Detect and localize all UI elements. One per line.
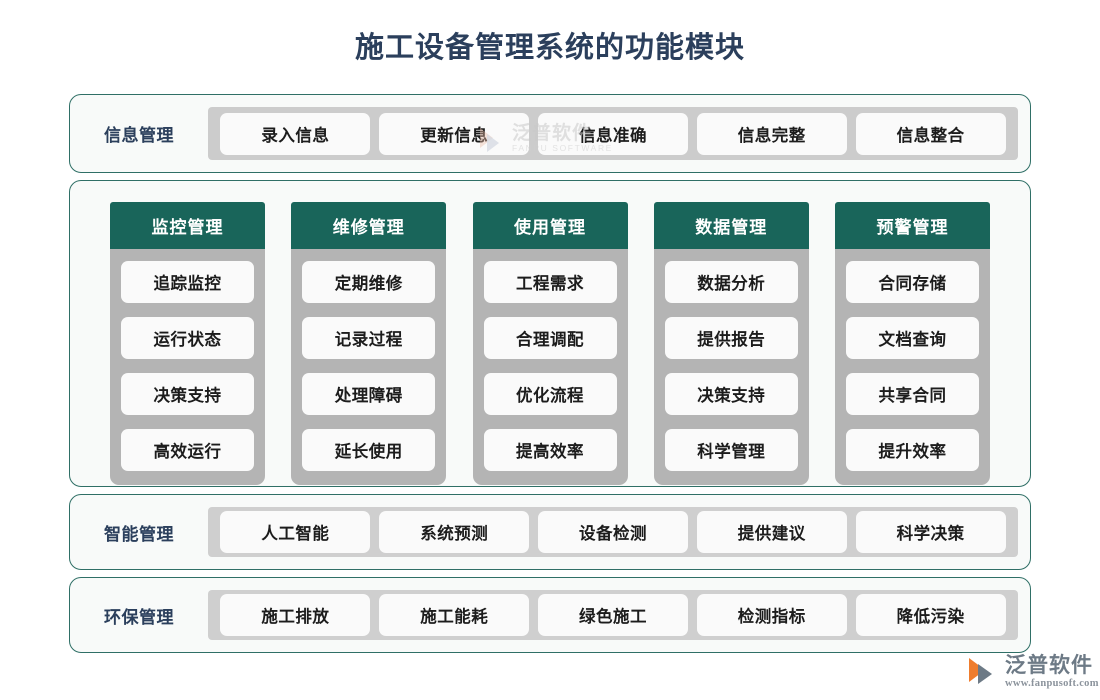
cell-usage-3[interactable]: 提高效率 [484, 429, 617, 471]
row-label-smart: 智能管理 [70, 520, 208, 545]
column-header-maintenance: 维修管理 [291, 202, 446, 249]
brand-logo: 泛普软件 www.fanpusoft.com [968, 655, 1099, 689]
column-body-usage: 工程需求 合理调配 优化流程 提高效率 [473, 249, 628, 485]
column-body-monitoring: 追踪监控 运行状态 决策支持 高效运行 [110, 249, 265, 485]
cell-usage-2[interactable]: 优化流程 [484, 373, 617, 415]
module-column-maintenance: 维修管理 定期维修 记录过程 处理障碍 延长使用 [291, 202, 446, 460]
brand-name: 泛普软件 [1005, 655, 1099, 678]
cell-usage-0[interactable]: 工程需求 [484, 261, 617, 303]
cell-data-0[interactable]: 数据分析 [665, 261, 798, 303]
column-body-alert: 合同存储 文档查询 共享合同 提升效率 [835, 249, 990, 485]
cell-maintenance-0[interactable]: 定期维修 [302, 261, 435, 303]
cell-alert-0[interactable]: 合同存储 [846, 261, 979, 303]
cell-maintenance-2[interactable]: 处理障碍 [302, 373, 435, 415]
pill-band-smart: 人工智能 系统预测 设备检测 提供建议 科学决策 [208, 507, 1018, 557]
module-column-usage: 使用管理 工程需求 合理调配 优化流程 提高效率 [473, 202, 628, 460]
pill-info-0[interactable]: 录入信息 [220, 113, 370, 155]
module-column-alert: 预警管理 合同存储 文档查询 共享合同 提升效率 [835, 202, 990, 460]
cell-alert-3[interactable]: 提升效率 [846, 429, 979, 471]
cell-maintenance-3[interactable]: 延长使用 [302, 429, 435, 471]
cell-monitoring-2[interactable]: 决策支持 [121, 373, 254, 415]
cell-maintenance-1[interactable]: 记录过程 [302, 317, 435, 359]
column-header-alert: 预警管理 [835, 202, 990, 249]
pill-eco-0[interactable]: 施工排放 [220, 594, 370, 636]
module-column-monitoring: 监控管理 追踪监控 运行状态 决策支持 高效运行 [110, 202, 265, 460]
cell-monitoring-3[interactable]: 高效运行 [121, 429, 254, 471]
pill-eco-2[interactable]: 绿色施工 [538, 594, 688, 636]
cell-usage-1[interactable]: 合理调配 [484, 317, 617, 359]
cell-alert-1[interactable]: 文档查询 [846, 317, 979, 359]
brand-url: www.fanpusoft.com [1005, 678, 1099, 689]
cell-data-2[interactable]: 决策支持 [665, 373, 798, 415]
pill-info-2[interactable]: 信息准确 [538, 113, 688, 155]
column-header-monitoring: 监控管理 [110, 202, 265, 249]
cell-data-1[interactable]: 提供报告 [665, 317, 798, 359]
cell-monitoring-1[interactable]: 运行状态 [121, 317, 254, 359]
pill-info-4[interactable]: 信息整合 [856, 113, 1006, 155]
column-body-data: 数据分析 提供报告 决策支持 科学管理 [654, 249, 809, 485]
pill-eco-4[interactable]: 降低污染 [856, 594, 1006, 636]
pill-info-3[interactable]: 信息完整 [697, 113, 847, 155]
cell-data-3[interactable]: 科学管理 [665, 429, 798, 471]
row-label-info: 信息管理 [70, 121, 208, 146]
pill-smart-0[interactable]: 人工智能 [220, 511, 370, 553]
pill-band-eco: 施工排放 施工能耗 绿色施工 检测指标 降低污染 [208, 590, 1018, 640]
row-label-eco: 环保管理 [70, 603, 208, 628]
cell-monitoring-0[interactable]: 追踪监控 [121, 261, 254, 303]
pill-band-info: 录入信息 更新信息 信息准确 信息完整 信息整合 [208, 107, 1018, 160]
column-body-maintenance: 定期维修 记录过程 处理障碍 延长使用 [291, 249, 446, 485]
page-title: 施工设备管理系统的功能模块 [0, 0, 1100, 68]
section-eco-management: 环保管理 施工排放 施工能耗 绿色施工 检测指标 降低污染 [69, 577, 1031, 653]
pill-eco-1[interactable]: 施工能耗 [379, 594, 529, 636]
column-header-data: 数据管理 [654, 202, 809, 249]
section-core-modules: 监控管理 追踪监控 运行状态 决策支持 高效运行 维修管理 定期维修 记录过程 … [69, 180, 1031, 487]
pill-smart-3[interactable]: 提供建议 [697, 511, 847, 553]
section-info-management: 信息管理 录入信息 更新信息 信息准确 信息完整 信息整合 [69, 94, 1031, 173]
module-column-data: 数据管理 数据分析 提供报告 决策支持 科学管理 [654, 202, 809, 460]
pill-eco-3[interactable]: 检测指标 [697, 594, 847, 636]
pill-info-1[interactable]: 更新信息 [379, 113, 529, 155]
column-header-usage: 使用管理 [473, 202, 628, 249]
pill-smart-2[interactable]: 设备检测 [538, 511, 688, 553]
section-smart-management: 智能管理 人工智能 系统预测 设备检测 提供建议 科学决策 [69, 494, 1031, 570]
fanpu-arrow-icon [968, 656, 1002, 686]
pill-smart-4[interactable]: 科学决策 [856, 511, 1006, 553]
pill-smart-1[interactable]: 系统预测 [379, 511, 529, 553]
cell-alert-2[interactable]: 共享合同 [846, 373, 979, 415]
